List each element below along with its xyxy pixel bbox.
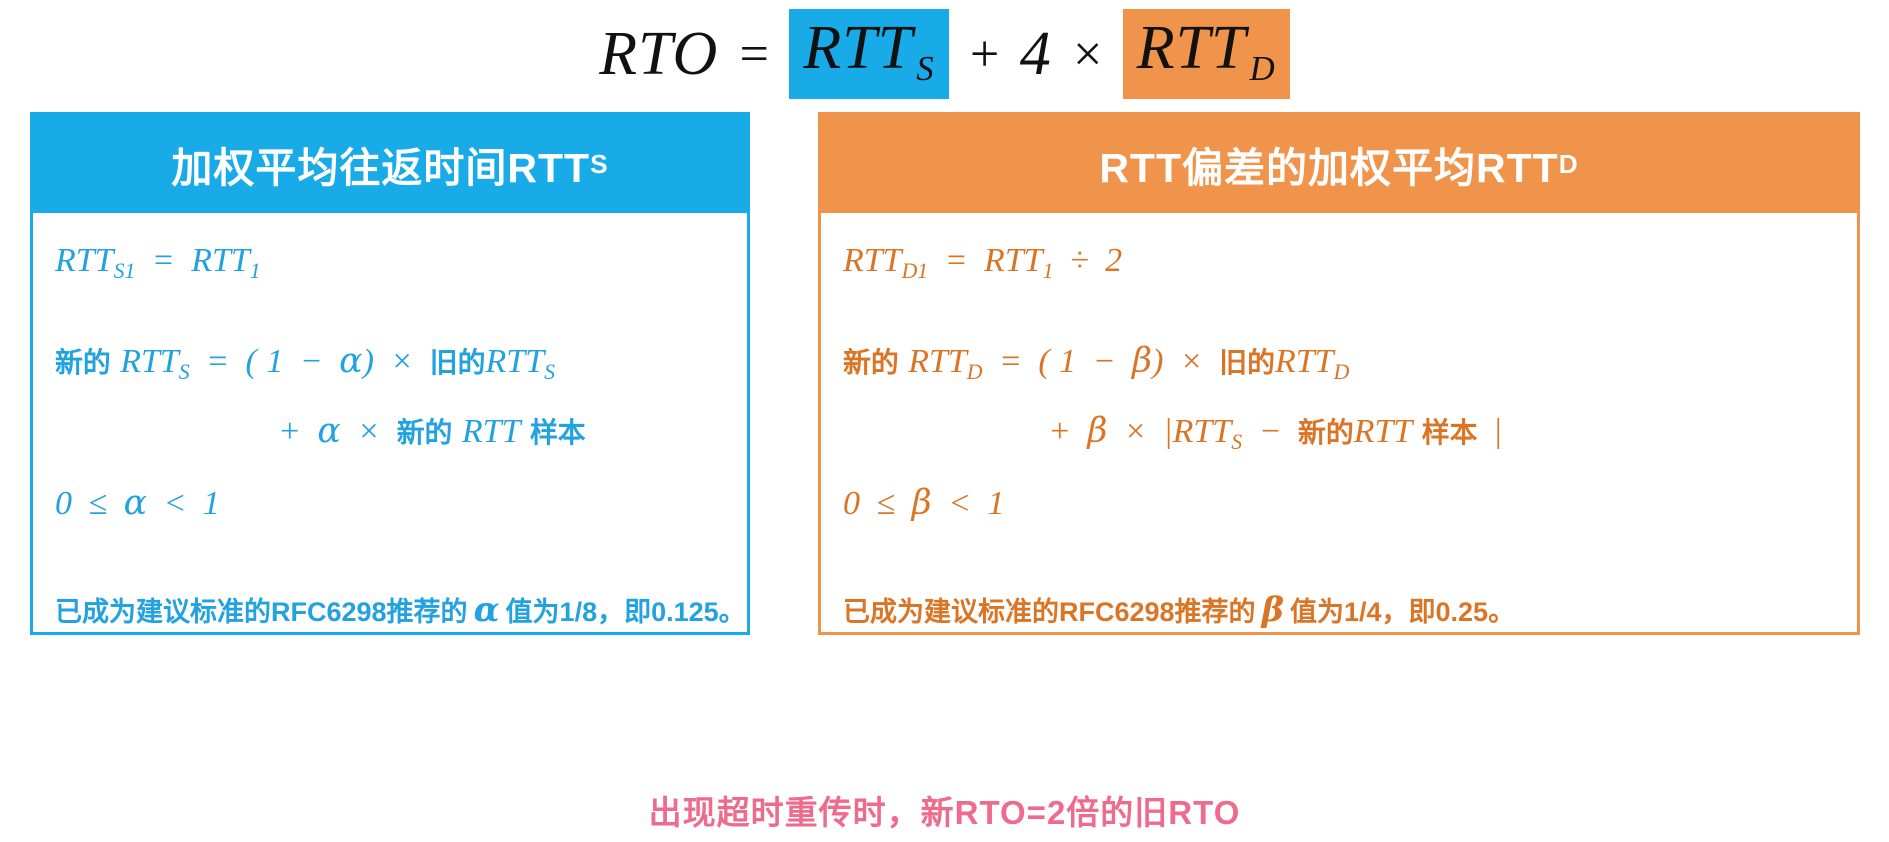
right-eq3-abs-close: | (1487, 413, 1502, 450)
left-equation-recursive: 新的 RTTS = ( 1 − α) × 旧的RTTS (55, 341, 555, 385)
formula-lhs-rto: RTO (599, 19, 718, 90)
left-eq3-sample-label: 样本 (530, 417, 586, 448)
right-eq2-prefix-old: 旧的 (1219, 347, 1275, 378)
right-eq1-equals: = (938, 242, 975, 279)
left-range-le: ≤ (81, 485, 114, 522)
right-eq3-plus: + (1041, 413, 1078, 450)
left-eq2-lhs-base: RTT (120, 343, 179, 380)
left-eq2-old-sub: S (544, 360, 555, 384)
right-eq2-close-paren: ) (1152, 343, 1163, 380)
right-eq2-minus: − (1086, 343, 1123, 380)
panel-rtt-d-header-subscript: D (1559, 149, 1579, 180)
formula-times-sign: × (1052, 25, 1123, 84)
right-eq2-old-sub: D (1334, 360, 1350, 384)
left-eq3-base: RTT (462, 413, 521, 450)
right-rfc-note: 已成为建议标准的RFC6298推荐的β值为1/4，即0.25。 (843, 589, 1515, 629)
left-eq2-times: × (383, 343, 420, 380)
left-range-lt: < (156, 485, 193, 522)
left-rfc-note-alpha: α (468, 589, 506, 629)
right-eq2-beta: β (1132, 341, 1152, 381)
left-eq1-lhs-sub: S1 (114, 259, 136, 283)
left-eq3-prefix-new: 新的 (397, 417, 453, 448)
right-range-beta: β (912, 483, 932, 523)
right-equation-initial: RTTD1 = RTT1 ÷ 2 (843, 241, 1122, 284)
right-eq3-sub: S (1231, 430, 1242, 454)
rto-master-formula: RTO = RTTS + 4 × RTTD (0, 0, 1889, 108)
left-eq3-times: × (350, 413, 387, 450)
right-beta-range: 0 ≤ β < 1 (843, 483, 1004, 523)
right-rfc-note-part2: 值为1/4，即0.25。 (1290, 597, 1515, 627)
formula-term-rtt-s-base: RTT (803, 14, 913, 82)
panel-rtt-d-header: RTT偏差的加权平均RTTD (821, 115, 1857, 213)
formula-term-rtt-d-subscript: D (1247, 49, 1276, 88)
right-eq2-one: 1 (1059, 343, 1076, 380)
right-eq1-rhs-base: RTT (984, 242, 1043, 279)
panel-rtt-d-header-label: RTT偏差的加权平均RTT (1099, 134, 1558, 194)
right-eq2-equals: = (992, 343, 1029, 380)
formula-term-rtt-d: RTTD (1123, 9, 1290, 99)
right-equation-recursive: 新的 RTTD = ( 1 − β) × 旧的RTTD (843, 341, 1349, 385)
timeout-retransmit-caption: 出现超时重传时，新RTO=2倍的旧RTO (0, 786, 1889, 834)
right-eq2-times: × (1173, 343, 1210, 380)
left-range-alpha: α (124, 483, 147, 523)
right-eq3-beta: β (1087, 411, 1107, 451)
left-eq2-equals: = (199, 343, 236, 380)
right-eq1-divide: ÷ (1063, 242, 1096, 279)
right-eq3-times: × (1117, 413, 1154, 450)
right-eq1-rhs-sub: 1 (1043, 259, 1054, 283)
left-equation-recursive-cont: + α × 新的 RTT 样本 (271, 411, 586, 451)
right-eq2-lhs-base: RTT (908, 343, 967, 380)
left-eq1-equals: = (145, 242, 182, 279)
right-eq3-sample-label: 样本 (1422, 417, 1478, 448)
left-eq1-rhs-base: RTT (191, 242, 250, 279)
right-eq3-minus: − (1252, 413, 1289, 450)
right-eq2-old-base: RTT (1275, 343, 1334, 380)
left-eq2-old-base: RTT (486, 343, 545, 380)
formula-term-rtt-s: RTTS (789, 9, 948, 99)
left-eq2-open-paren: ( (246, 343, 257, 380)
right-rfc-note-beta: β (1256, 589, 1290, 629)
formula-plus-sign: + (949, 25, 1020, 84)
panel-rtt-s: 加权平均往返时间RTTS RTTS1 = RTT1 新的 RTTS = ( 1 … (30, 112, 750, 635)
left-eq3-alpha: α (317, 411, 340, 451)
right-range-one: 1 (987, 485, 1004, 522)
left-eq2-minus: − (293, 343, 330, 380)
formula-term-rtt-s-subscript: S (913, 49, 934, 88)
right-eq3-abs-open: | (1163, 413, 1172, 450)
left-eq2-alpha: α (339, 341, 362, 381)
right-eq2-lhs-sub: D (967, 360, 983, 384)
right-range-zero: 0 (843, 485, 860, 522)
panel-rtt-d: RTT偏差的加权平均RTTD RTTD1 = RTT1 ÷ 2 新的 RTTD … (818, 112, 1860, 635)
right-range-lt: < (941, 485, 978, 522)
panel-rtt-s-header: 加权平均往返时间RTTS (33, 115, 747, 213)
left-rfc-note-part2: 值为1/8，即0.125。 (506, 597, 746, 627)
left-rfc-note: 已成为建议标准的RFC6298推荐的α值为1/8，即0.125。 (55, 589, 746, 629)
panel-rtt-s-header-label: 加权平均往返时间RTT (171, 134, 590, 194)
left-eq2-one: 1 (266, 343, 283, 380)
left-equation-initial: RTTS1 = RTT1 (55, 241, 261, 284)
formula-term-rtt-d-base: RTT (1137, 14, 1247, 82)
right-eq3-base: RTT (1173, 413, 1232, 450)
left-eq2-close-paren: ) (363, 343, 374, 380)
left-eq2-prefix-new: 新的 (55, 347, 111, 378)
right-eq1-two: 2 (1105, 242, 1122, 279)
formula-factor-four: 4 (1020, 19, 1052, 90)
left-eq3-plus: + (271, 413, 308, 450)
left-rfc-note-part1: 已成为建议标准的RFC6298推荐的 (55, 597, 468, 627)
right-rfc-note-part1: 已成为建议标准的RFC6298推荐的 (843, 597, 1256, 627)
left-alpha-range: 0 ≤ α < 1 (55, 483, 220, 523)
formula-lhs-label: RTO (599, 20, 718, 88)
right-eq1-lhs-sub: D1 (902, 259, 929, 283)
left-range-zero: 0 (55, 485, 72, 522)
right-eq3-prefix-new: 新的 (1298, 417, 1354, 448)
right-eq2-prefix-new: 新的 (843, 347, 899, 378)
left-eq2-prefix-old: 旧的 (430, 347, 486, 378)
left-range-one: 1 (203, 485, 220, 522)
left-eq2-lhs-sub: S (179, 360, 190, 384)
panel-rtt-s-header-subscript: S (590, 149, 609, 180)
right-range-le: ≤ (869, 485, 902, 522)
left-eq1-lhs-base: RTT (55, 242, 114, 279)
right-eq1-lhs-base: RTT (843, 242, 902, 279)
right-eq3-new-base: RTT (1354, 413, 1413, 450)
right-eq2-open-paren: ( (1038, 343, 1049, 380)
panels-container: 加权平均往返时间RTTS RTTS1 = RTT1 新的 RTTS = ( 1 … (0, 112, 1889, 777)
formula-equals-sign: = (718, 25, 789, 84)
right-equation-recursive-cont: + β × |RTTS − 新的RTT 样本 | (1041, 411, 1502, 455)
left-eq1-rhs-sub: 1 (250, 259, 261, 283)
